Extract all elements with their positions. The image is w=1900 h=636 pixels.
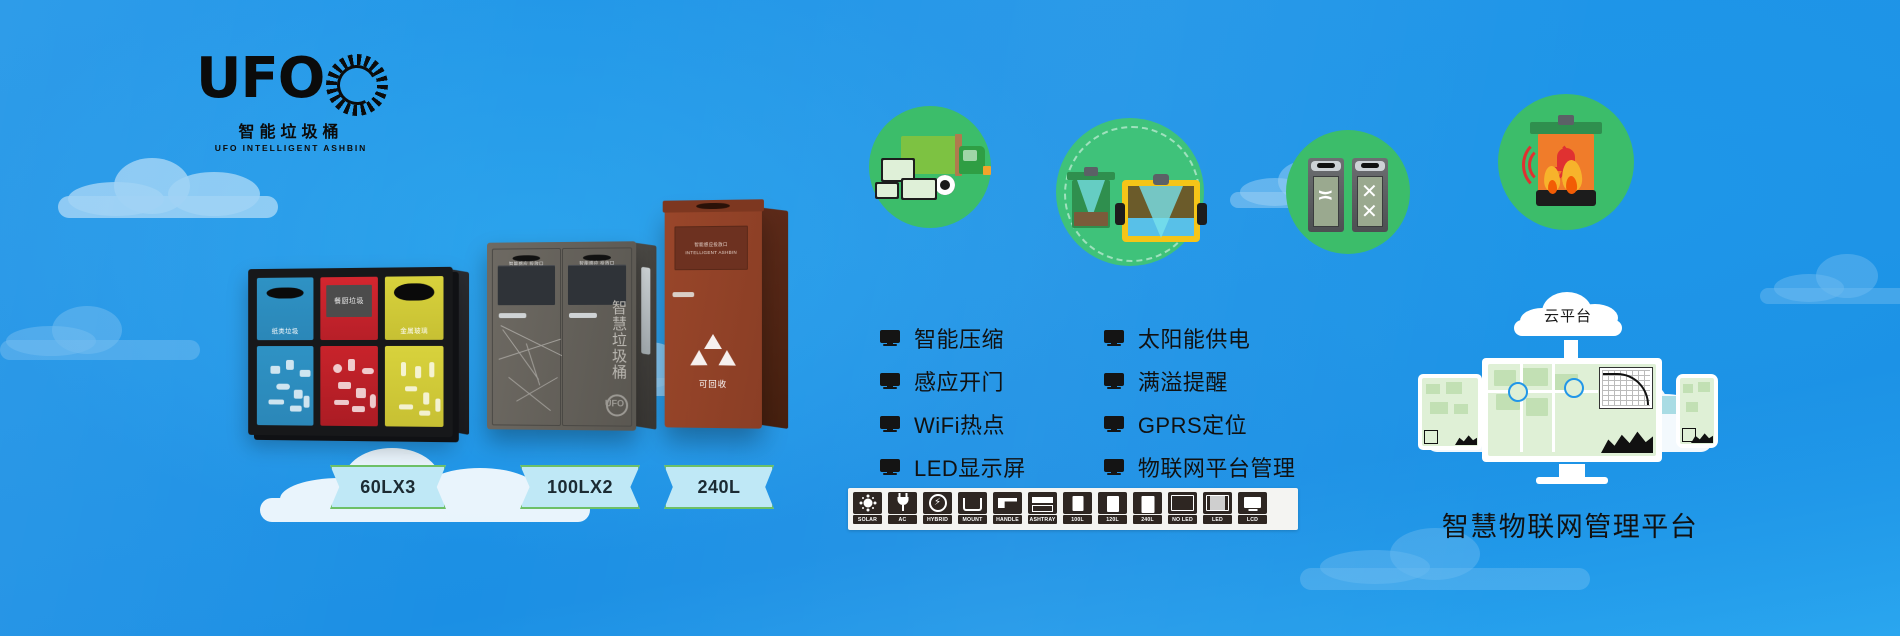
feature-circle-fire-alarm [1498, 94, 1634, 230]
cloud-platform-badge: 云平台 [1514, 290, 1622, 336]
recycle-label: 可回收 [665, 378, 762, 391]
spec-solar: SOLAR [852, 492, 883, 526]
cloud-platform-label: 云平台 [1514, 290, 1622, 336]
monitor-icon [880, 416, 900, 433]
spec-ac: AC [887, 492, 918, 526]
management-terminals-icon [875, 158, 941, 202]
feature-item: 太阳能供电 [1104, 322, 1296, 354]
twin-logo-text: UFO [605, 398, 624, 408]
bin-panel-line2: INTELLIGENT ASHBIN [685, 249, 737, 254]
sun-icon [853, 492, 882, 514]
monitor-dashboard [1488, 364, 1656, 456]
cloud-far-right [1760, 250, 1900, 304]
monitor-icon [1104, 459, 1124, 476]
compartment-top-kitchen: 餐厨垃圾 [320, 277, 378, 340]
slot-icon [394, 283, 434, 300]
phone-device [1676, 374, 1718, 448]
spec-icon-strip: SOLAR AC ⚡ HYBRID MOUNT HANDLE ASHTRAY 1… [848, 488, 1298, 530]
compartment-door-paper [257, 346, 314, 426]
product-banner: UFO 智能垃圾桶 UFO INTELLIGENT ASHBIN 纸类垃圾 餐厨… [0, 0, 1900, 636]
desktop-monitor [1482, 358, 1662, 462]
platform-title: 智慧物联网管理平台 [1385, 505, 1755, 544]
spec-led: LED [1202, 492, 1233, 526]
feature-circle-fill-level [1056, 118, 1204, 266]
ashtray-icon [1028, 492, 1057, 514]
logo-ring-icon [326, 54, 388, 116]
feature-item: 智能压缩 [880, 322, 1026, 354]
cloud-left-upper [58, 148, 288, 218]
bin-100l-icon [1063, 492, 1092, 514]
spec-240l: 240L [1132, 492, 1163, 526]
logo-mark: UFO [196, 52, 396, 116]
compartment-label-kitchen: 餐厨垃圾 [334, 296, 364, 306]
fire-alarm-bin-icon [1538, 122, 1594, 206]
monitor-icon [1104, 330, 1124, 347]
product-single-recycle-bin: 智能感应投放口 INTELLIGENT ASHBIN 可回收 [665, 205, 762, 428]
spec-handle: HANDLE [992, 492, 1023, 526]
hybrid-bolt-icon: ⚡ [923, 492, 952, 514]
logo-english-name: UFO INTELLIGENT ASHBIN [196, 143, 386, 153]
compaction-bin-icon: ≍ [1308, 158, 1344, 232]
waste-graphic [328, 354, 370, 418]
product-tag-240l: 240L [664, 465, 774, 509]
bin-240l-icon [1133, 492, 1162, 514]
feature-item: 满溢提醒 [1104, 365, 1296, 397]
product-tag-100lx2: 100LX2 [520, 465, 640, 509]
compartment-door-kitchen [320, 346, 378, 426]
phone-dashboard [1680, 378, 1714, 444]
feature-item: LED显示屏 [880, 451, 1026, 483]
feature-item: 感应开门 [880, 365, 1026, 397]
spec-no-led: NO LED [1167, 492, 1198, 526]
chart-panel [1599, 367, 1653, 409]
compartment-door-metalglass [385, 346, 444, 427]
waste-graphic [393, 354, 435, 419]
compartment-screen: 餐厨垃圾 [326, 285, 372, 317]
recycle-icon [692, 334, 734, 374]
compartment-label-metalglass: 金属玻璃 [385, 325, 444, 335]
door-handle [673, 292, 695, 297]
monitor-icon [1104, 416, 1124, 433]
logo-chinese-name: 智能垃圾桶 [196, 118, 386, 142]
bin-panel-line1: 智能感应投放口 [694, 241, 727, 247]
monitor-icon [880, 459, 900, 476]
compaction-bin-icon-full: ✕ ✕ [1352, 158, 1388, 232]
ufo-logo: UFO 智能垃圾桶 UFO INTELLIGENT ASHBIN [196, 52, 396, 156]
feature-column-2: 太阳能供电 满溢提醒 GPRS定位 物联网平台管理 [1104, 322, 1296, 483]
cloud-left-lower [0, 300, 220, 360]
product-tag-60lx3: 60LX3 [330, 465, 446, 509]
door-handle [569, 313, 597, 318]
feature-item: 物联网平台管理 [1104, 451, 1296, 483]
feature-column-1: 智能压缩 感应开门 WiFi热点 LED显示屏 [880, 322, 1026, 483]
compartment-top-metalglass: 金属玻璃 [385, 276, 444, 340]
twin-side-text: 智慧垃圾桶 [608, 300, 626, 381]
slot-icon [267, 287, 304, 298]
handle-icon [993, 492, 1022, 514]
door-handle [499, 313, 527, 318]
fill-level-container-icon [1122, 180, 1200, 242]
plug-icon [888, 492, 917, 514]
mount-icon [958, 492, 987, 514]
iot-platform-graphic: 云平台 [1418, 296, 1718, 476]
product-twin-smart-bin: 智能感应 投放口 智能感应 投放口 智慧垃圾桶 UFO [487, 241, 636, 430]
feature-circle-compaction: ≍ ✕ ✕ [1286, 130, 1410, 254]
monitor-icon [1104, 373, 1124, 390]
spec-120l: 120L [1097, 492, 1128, 526]
monitor-icon [880, 330, 900, 347]
compartment-top-paper: 纸类垃圾 [257, 277, 314, 340]
spec-hybrid: ⚡ HYBRID [922, 492, 953, 526]
feature-circle-truck [869, 106, 991, 228]
tablet-device [1418, 374, 1482, 450]
led-icon [1203, 492, 1232, 514]
sensor-bin-icon [1072, 172, 1110, 228]
spec-ashtray: ASHTRAY [1027, 492, 1058, 526]
bin-120l-icon [1098, 492, 1127, 514]
twin-window [498, 265, 555, 305]
monitor-icon [880, 373, 900, 390]
feature-list: 智能压缩 感应开门 WiFi热点 LED显示屏 太阳能供电 满溢提醒 [880, 322, 1295, 483]
product-three-compartment-bin: 纸类垃圾 餐厨垃圾 金属玻璃 [248, 267, 453, 437]
feature-item: GPRS定位 [1104, 408, 1296, 440]
spec-lcd: LCD [1237, 492, 1268, 526]
compartment-label-paper: 纸类垃圾 [257, 325, 314, 335]
twin-door-left: 智能感应 投放口 [492, 248, 561, 426]
feature-item: WiFi热点 [880, 408, 1026, 440]
tablet-dashboard [1422, 378, 1478, 446]
ufo-logo-icon: UFO [606, 394, 628, 416]
spec-mount: MOUNT [957, 492, 988, 526]
spec-100l: 100L [1062, 492, 1093, 526]
waste-graphic [265, 354, 306, 418]
bin-display-window: 智能感应投放口 INTELLIGENT ASHBIN [674, 226, 747, 271]
logo-wordmark: UFO [196, 52, 324, 105]
lcd-icon [1238, 492, 1267, 514]
no-led-icon [1168, 492, 1197, 514]
led-light-bar [641, 267, 650, 355]
